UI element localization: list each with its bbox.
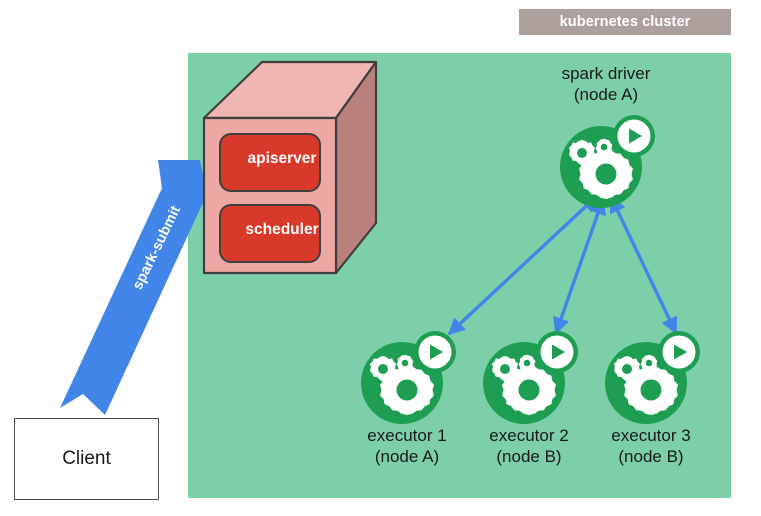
kubernetes-cluster-label: kubernetes cluster — [560, 14, 691, 30]
control-plane-cube — [200, 58, 380, 283]
gears-play-icon — [361, 331, 456, 424]
executor-3-subtitle: (node B) — [571, 446, 731, 467]
spark-driver-title: spark driver — [516, 63, 696, 84]
scheduler-label: scheduler — [219, 221, 345, 239]
executor-3-node[interactable] — [601, 328, 701, 428]
spark-driver-node[interactable] — [556, 112, 656, 212]
gears-play-icon — [483, 331, 578, 424]
apiserver-label: apiserver — [219, 150, 345, 168]
executor-3-caption: executor 3 (node B) — [571, 425, 731, 467]
executor-3-title: executor 3 — [571, 425, 731, 446]
client-box: Client — [14, 418, 159, 500]
spark-driver-caption: spark driver (node A) — [516, 63, 696, 105]
executor-1-node[interactable] — [357, 328, 457, 428]
diagram-canvas: kubernetes cluster spark-submit Client a… — [0, 0, 761, 516]
gears-play-icon — [605, 331, 700, 424]
executor-2-node[interactable] — [479, 328, 579, 428]
gears-play-icon — [560, 115, 655, 208]
kubernetes-cluster-chip: kubernetes cluster — [519, 9, 731, 35]
client-label: Client — [62, 448, 111, 470]
spark-driver-subtitle: (node A) — [516, 84, 696, 105]
